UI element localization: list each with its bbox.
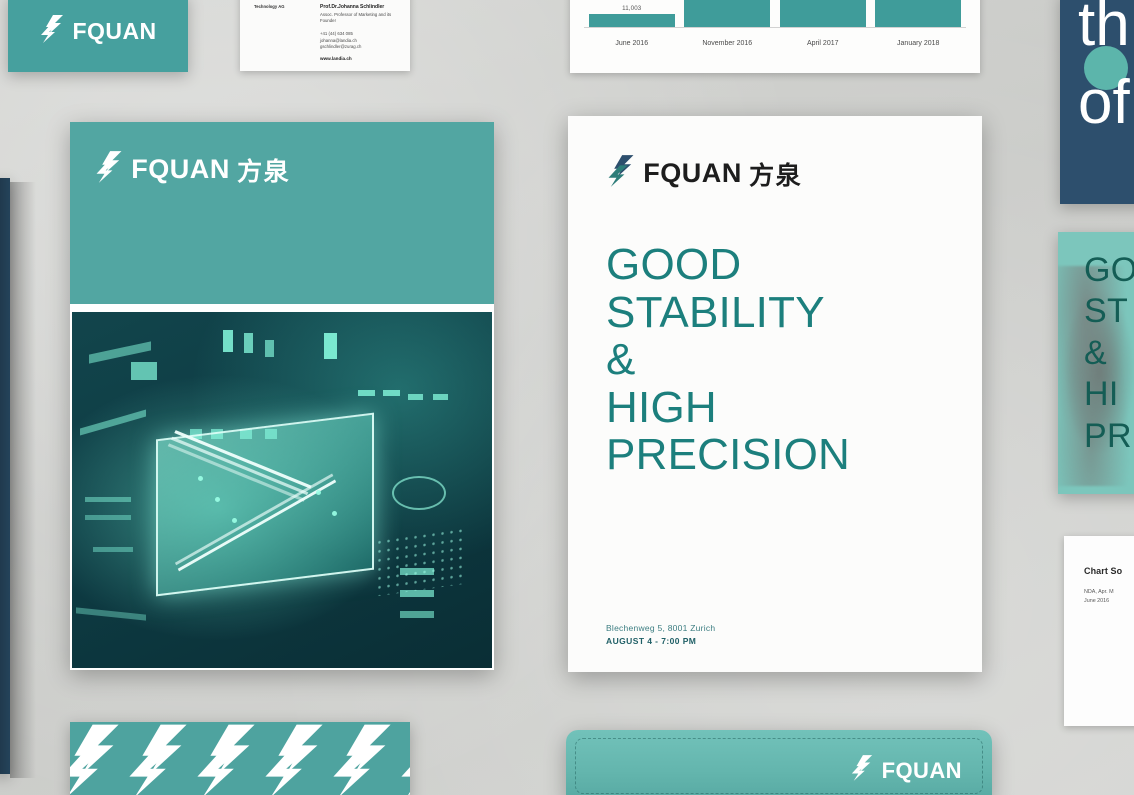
navy-poster: th of bbox=[1060, 0, 1134, 204]
headline-line: GOOD bbox=[606, 241, 982, 289]
navy-line-1: th bbox=[1078, 0, 1130, 55]
circuit-artwork bbox=[72, 312, 492, 668]
bar-chart: 11,00334,000 June 2016November 2016April… bbox=[584, 0, 966, 51]
chart-bar-group bbox=[781, 0, 865, 27]
fquan-arrow-mark-icon bbox=[850, 754, 874, 787]
logo-lockup: FQUAN bbox=[850, 754, 962, 787]
ring-detail bbox=[392, 476, 446, 510]
chart-x-tick: November 2016 bbox=[685, 40, 769, 47]
wordmark-text: FQUAN bbox=[882, 758, 962, 784]
chart-bar-value: 11,003 bbox=[622, 5, 641, 12]
brochure-cover: FQUAN 方泉 bbox=[70, 122, 494, 670]
poster-headline: GOODSTABILITY&HIGHPRECISION bbox=[606, 241, 982, 479]
chart-bar bbox=[875, 0, 961, 27]
chart-x-tick: April 2017 bbox=[781, 40, 865, 47]
chart-bar bbox=[684, 0, 770, 27]
fquan-arrow-mark-icon bbox=[606, 154, 636, 193]
logo-lockup: FQUAN 方泉 bbox=[606, 154, 982, 193]
chart-bar bbox=[589, 14, 675, 27]
sliver-shadow bbox=[10, 182, 36, 778]
chart-x-tick: January 2018 bbox=[876, 40, 960, 47]
poster-address: Blechenweg 5, 8001 Zurich bbox=[606, 623, 715, 633]
wordmark-text: FQUAN bbox=[131, 154, 230, 185]
headline-line: PRECISION bbox=[606, 431, 982, 479]
hand-headline-line: PR bbox=[1084, 416, 1134, 457]
pattern-repeat bbox=[70, 722, 410, 795]
chart-bar-group: 11,003 bbox=[590, 0, 674, 27]
fquan-arrow-mark-icon bbox=[94, 150, 124, 189]
fquan-arrow-mark-icon bbox=[192, 722, 260, 795]
logo-lockup: FQUAN 方泉 bbox=[94, 150, 494, 189]
chart-x-labels: June 2016November 2016April 2017January … bbox=[584, 40, 966, 47]
fquan-arrow-mark-icon bbox=[70, 722, 124, 795]
chart-axis-line bbox=[584, 27, 966, 28]
pattern-card bbox=[70, 722, 410, 795]
navy-edge-sliver bbox=[0, 178, 10, 774]
wordmark-text: FQUAN bbox=[643, 158, 742, 189]
chart-x-tick: June 2016 bbox=[590, 40, 674, 47]
chip-detail bbox=[156, 412, 374, 595]
card-company: Technology AG bbox=[254, 4, 306, 10]
chart-sheet: 11,00334,000 June 2016November 2016April… bbox=[570, 0, 980, 73]
headline-line: HIGH bbox=[606, 384, 982, 432]
fquan-arrow-mark-icon bbox=[328, 722, 396, 795]
hand-headline-line: HI bbox=[1084, 374, 1134, 415]
fquan-arrow-mark-icon bbox=[396, 722, 410, 795]
wordmark-cjk: 方泉 bbox=[749, 156, 802, 192]
logo-lockup: FQUAN bbox=[39, 14, 156, 49]
report-title: Chart So bbox=[1084, 566, 1134, 576]
circuit-board-photo bbox=[72, 312, 492, 668]
card-name: Prof.Dr.Johanna Schlindler bbox=[320, 4, 400, 10]
dot-grid-detail bbox=[375, 525, 467, 596]
hand-headline-line: ST bbox=[1084, 291, 1134, 332]
fquan-arrow-mark-icon bbox=[124, 722, 192, 795]
poster-datetime: AUGUST 4 - 7:00 PM bbox=[606, 636, 715, 646]
card-details: Prof.Dr.Johanna Schlindler Assoc. Profes… bbox=[320, 4, 400, 61]
fquan-arrow-mark-icon bbox=[260, 722, 328, 795]
hand-headline-line: & bbox=[1084, 333, 1134, 374]
chart-bar-group: 34,000 bbox=[685, 0, 769, 27]
white-business-card: Technology AG Prof.Dr.Johanna Schlindler… bbox=[240, 0, 410, 71]
card-contact: +41 (44) 634 085 johanna@landia.ch gschl… bbox=[320, 31, 400, 51]
brochure-header: FQUAN 方泉 bbox=[70, 122, 494, 304]
card-role: Assoc. Professor of Marketing and its Fo… bbox=[320, 12, 400, 25]
headline-line: STABILITY bbox=[606, 289, 982, 337]
report-sub-1: NDA, Apr. M bbox=[1084, 588, 1134, 597]
event-poster: FQUAN 方泉 GOODSTABILITY&HIGHPRECISION Ble… bbox=[568, 116, 982, 672]
hand-headline-line: GO bbox=[1084, 250, 1134, 291]
fquan-arrow-mark-icon bbox=[39, 14, 65, 49]
poster-footer: Blechenweg 5, 8001 Zurich AUGUST 4 - 7:0… bbox=[606, 623, 715, 646]
chart-bars: 11,00334,000 bbox=[584, 0, 966, 27]
chart-bar-group bbox=[876, 0, 960, 27]
wordmark-text: FQUAN bbox=[73, 18, 157, 45]
report-sheet: Chart So NDA, Apr. M June 2016 bbox=[1064, 536, 1134, 726]
wordmark-cjk: 方泉 bbox=[237, 152, 290, 188]
headline-line: & bbox=[606, 336, 982, 384]
navy-line-2: of bbox=[1078, 74, 1130, 133]
hand-poster: GOST&HIPR bbox=[1058, 232, 1134, 494]
chart-bar bbox=[780, 0, 866, 27]
teal-business-card: FQUAN bbox=[8, 0, 188, 72]
card-website: www.landia.ch bbox=[320, 56, 400, 61]
fabric-notebook: FQUAN bbox=[566, 730, 992, 795]
report-sub-2: June 2016 bbox=[1084, 597, 1134, 606]
hand-poster-headline: GOST&HIPR bbox=[1084, 250, 1134, 457]
